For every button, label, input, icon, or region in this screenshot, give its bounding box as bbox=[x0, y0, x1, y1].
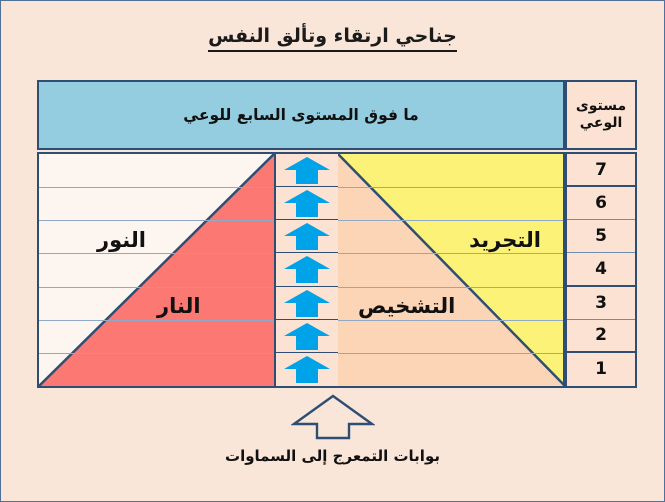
up-arrow-icon bbox=[283, 255, 331, 283]
gateway-section: بوابات التمعرج إلى السماوات bbox=[1, 393, 664, 465]
diagram-body-row: النور النار التجريد التشخيص 7654321 bbox=[37, 152, 637, 388]
diagram-header-row: ما فوق المستوى السابع للوعي مستوى الوعي bbox=[37, 80, 637, 150]
left-panel-light-fire: النور النار bbox=[37, 152, 276, 388]
up-arrow-icon bbox=[283, 156, 331, 184]
arrow-cell bbox=[276, 187, 338, 220]
level-column-header: مستوى الوعي bbox=[565, 80, 637, 150]
label-light: النور bbox=[97, 228, 146, 252]
up-arrow-icon bbox=[283, 222, 331, 250]
ascension-arrow-column bbox=[276, 152, 338, 388]
level-cell-3: 3 bbox=[567, 287, 635, 320]
arrow-cell bbox=[276, 154, 338, 187]
fire-triangle-shape bbox=[39, 154, 274, 386]
level-cell-7: 7 bbox=[567, 154, 635, 187]
consciousness-level-column: 7654321 bbox=[565, 152, 637, 388]
level-cell-1: 1 bbox=[567, 353, 635, 386]
level-cell-6: 6 bbox=[567, 187, 635, 220]
label-fire: النار bbox=[157, 294, 201, 318]
label-personification: التشخيص bbox=[358, 294, 455, 318]
arrow-cell bbox=[276, 253, 338, 286]
level-cell-2: 2 bbox=[567, 320, 635, 353]
title-bar: جناحي ارتقاء وتألق النفس bbox=[1, 25, 664, 52]
abstraction-triangle-shape bbox=[338, 154, 565, 386]
arrow-cell bbox=[276, 287, 338, 320]
up-arrow-icon bbox=[283, 355, 331, 383]
page-title: جناحي ارتقاء وتألق النفس bbox=[208, 25, 457, 52]
arrow-cell bbox=[276, 353, 338, 386]
up-arrow-icon bbox=[283, 322, 331, 350]
up-arrow-icon bbox=[283, 189, 331, 217]
up-arrow-outline-icon bbox=[291, 393, 375, 445]
above-seventh-level-band: ما فوق المستوى السابع للوعي bbox=[37, 80, 565, 150]
consciousness-diagram: ما فوق المستوى السابع للوعي مستوى الوعي … bbox=[37, 80, 637, 388]
right-panel-abstraction-personification: التجريد التشخيص bbox=[338, 152, 565, 388]
above-seventh-level-label: ما فوق المستوى السابع للوعي bbox=[183, 106, 419, 124]
arrow-cell bbox=[276, 320, 338, 353]
label-abstraction: التجريد bbox=[469, 228, 541, 252]
level-column-header-label: مستوى الوعي bbox=[567, 98, 635, 133]
gateway-caption: بوابات التمعرج إلى السماوات bbox=[1, 447, 664, 465]
up-arrow-icon bbox=[283, 289, 331, 317]
level-cell-4: 4 bbox=[567, 253, 635, 286]
arrow-cell bbox=[276, 220, 338, 253]
level-cell-5: 5 bbox=[567, 220, 635, 253]
